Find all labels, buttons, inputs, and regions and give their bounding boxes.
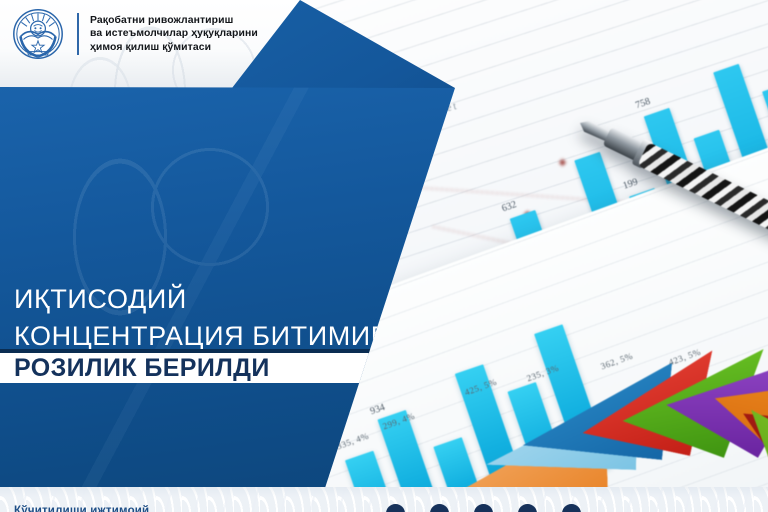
header-divider: [77, 13, 79, 55]
facebook-icon[interactable]: [430, 504, 449, 512]
uzbekistan-state-emblem-icon: [12, 8, 64, 60]
headline-highlight-text: РОЗИЛИК БЕРИЛДИ: [0, 354, 270, 383]
organization-name: Рақобатни ривожлантириш ва истеъмолчилар…: [90, 14, 258, 55]
headline-highlight-bar: РОЗИЛИК БЕРИЛДИ: [0, 353, 390, 383]
news-card: market 758 632 425: [0, 0, 768, 512]
headline-line-1: ИҚТИСОДИЙ: [0, 281, 440, 318]
bar-value-label: 199: [622, 176, 640, 191]
footer-social-icons: [386, 504, 581, 512]
instagram-icon[interactable]: [474, 504, 493, 512]
footer-bar: Кўчитилиши ижтимоий: [0, 487, 768, 512]
telegram-icon[interactable]: [386, 504, 405, 512]
twitter-icon[interactable]: [562, 504, 581, 512]
footer-caption: Кўчитилиши ижтимоий: [14, 505, 149, 512]
bar-value-label: 632: [500, 199, 518, 214]
bar-value-label: 758: [634, 96, 652, 111]
youtube-icon[interactable]: [518, 504, 537, 512]
bar-value-label: 934: [369, 402, 387, 417]
